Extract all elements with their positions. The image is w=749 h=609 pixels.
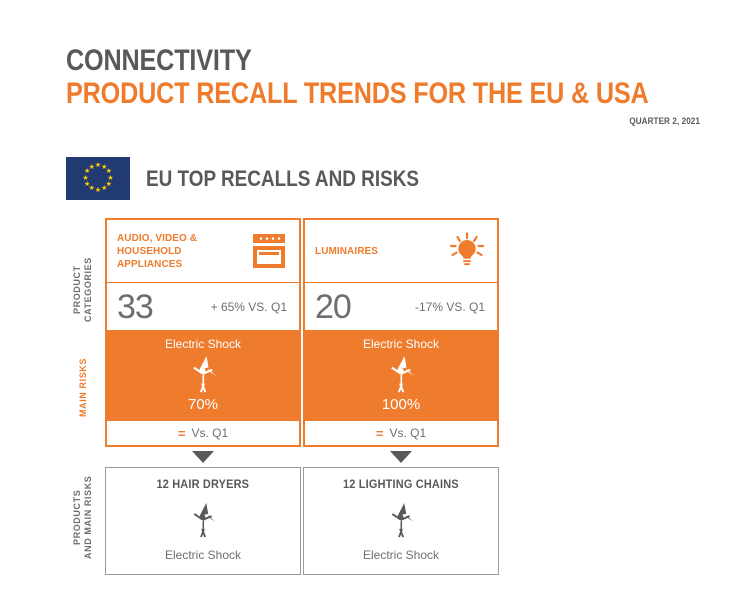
header: CONNECTIVITY PRODUCT RECALL TRENDS FOR T… xyxy=(66,46,700,126)
electric-shock-icon xyxy=(305,353,497,395)
electric-shock-icon xyxy=(107,353,299,395)
product-risk: Electric Shock xyxy=(165,548,241,562)
category-count-row: 33 + 65% VS. Q1 xyxy=(107,282,299,330)
category-column: LUMINAIRES xyxy=(303,218,499,575)
axis-label-products-and-main-risks: PRODUCTS AND MAIN RISKS xyxy=(72,455,94,580)
eu-star-icon: ★ xyxy=(88,164,96,172)
electric-shock-icon xyxy=(187,500,219,540)
main-risk-name: Electric Shock xyxy=(305,336,497,352)
down-arrow-icon xyxy=(390,451,412,463)
axis-label-main-risks: MAIN RISKS xyxy=(78,345,89,430)
product-name: 12 HAIR DRYERS xyxy=(157,479,250,491)
section-heading: ★★★★★★★★★★★★ EU TOP RECALLS AND RISKS xyxy=(66,157,463,200)
axis-label-product-categories: PRODUCT CATEGORIES xyxy=(72,240,94,340)
category-header: LUMINAIRES xyxy=(305,220,497,282)
recall-count: 20 xyxy=(315,290,351,324)
category-count-row: 20 -17% VS. Q1 xyxy=(305,282,497,330)
main-risk-percent: 100% xyxy=(305,396,497,414)
risk-trend-footer: = Vs. Q1 xyxy=(105,421,301,447)
main-risk-band: Electric Shock 70% xyxy=(105,330,301,421)
product-risk: Electric Shock xyxy=(363,548,439,562)
category-card[interactable]: AUDIO, VIDEO & HOUSEHOLD APPLIANCES 33 +… xyxy=(105,218,301,330)
risk-trend-footer: = Vs. Q1 xyxy=(303,421,499,447)
product-box[interactable]: 12 LIGHTING CHAINS Electric Shock xyxy=(303,467,499,575)
light-bulb-icon xyxy=(447,229,487,273)
trend-label: Vs. Q1 xyxy=(389,426,426,440)
product-box[interactable]: 12 HAIR DRYERS Electric Shock xyxy=(105,467,301,575)
electric-shock-icon xyxy=(385,500,417,540)
main-risk-band: Electric Shock 100% xyxy=(303,330,499,421)
trend-equal-icon: = xyxy=(178,427,186,440)
category-column: AUDIO, VIDEO & HOUSEHOLD APPLIANCES 33 +… xyxy=(105,218,301,575)
quarter-label: QUARTER 2, 2021 xyxy=(129,116,700,126)
recall-delta: + 65% VS. Q1 xyxy=(211,300,287,314)
eu-flag-icon: ★★★★★★★★★★★★ xyxy=(66,157,130,200)
page-title-line1: CONNECTIVITY xyxy=(66,46,599,76)
section-title: EU TOP RECALLS AND RISKS xyxy=(146,166,419,192)
oven-icon xyxy=(249,229,289,273)
category-name: AUDIO, VIDEO & HOUSEHOLD APPLIANCES xyxy=(117,232,197,271)
main-risk-percent: 70% xyxy=(107,396,299,414)
product-name: 12 LIGHTING CHAINS xyxy=(343,479,459,491)
infographic-page: CONNECTIVITY PRODUCT RECALL TRENDS FOR T… xyxy=(0,0,749,609)
trend-equal-icon: = xyxy=(376,427,384,440)
trend-label: Vs. Q1 xyxy=(191,426,228,440)
recall-count: 33 xyxy=(117,290,153,324)
category-card[interactable]: LUMINAIRES xyxy=(303,218,499,330)
main-risk-name: Electric Shock xyxy=(107,336,299,352)
down-arrow-icon xyxy=(192,451,214,463)
category-name: LUMINAIRES xyxy=(315,245,378,258)
page-title-line2: PRODUCT RECALL TRENDS FOR THE EU & USA xyxy=(66,78,599,110)
category-header: AUDIO, VIDEO & HOUSEHOLD APPLIANCES xyxy=(107,220,299,282)
recall-delta: -17% VS. Q1 xyxy=(415,300,485,314)
